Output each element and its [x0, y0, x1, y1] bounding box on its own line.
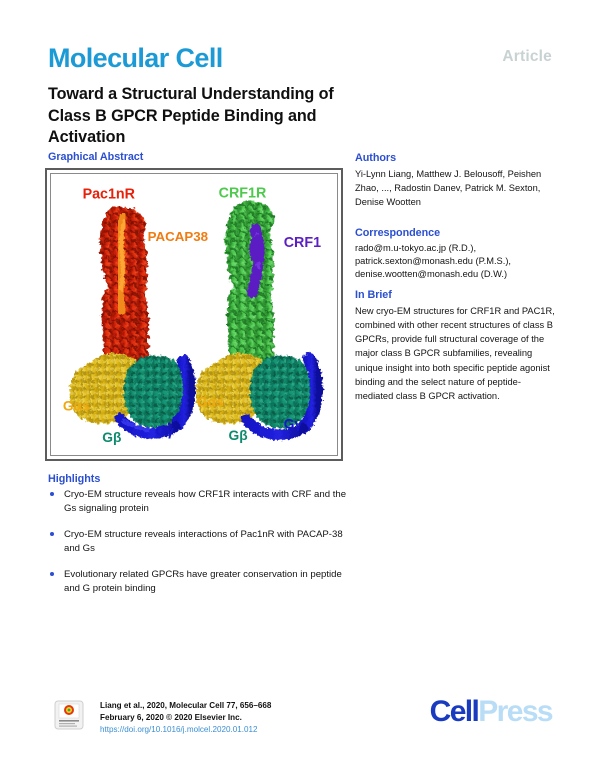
article-type-tag: Article: [502, 48, 552, 66]
label-g-alpha-s-left: Gαs: [63, 399, 90, 414]
bullet-icon: [50, 532, 54, 536]
highlights-heading: Highlights: [48, 473, 100, 485]
in-brief-heading: In Brief: [355, 289, 555, 301]
authors-section: Authors Yi-Lynn Liang, Matthew J. Belous…: [355, 152, 555, 209]
journal-title: Molecular Cell: [48, 44, 552, 72]
journal-cover-thumbnail-icon: [54, 700, 84, 730]
in-brief-text: New cryo-EM structures for CRF1R and PAC…: [355, 304, 555, 403]
in-brief-section: In Brief New cryo-EM structures for CRF1…: [355, 289, 555, 403]
highlights-list: Cryo-EM structure reveals how CRF1R inte…: [48, 488, 348, 609]
citation-block: Liang et al., 2020, Molecular Cell 77, 6…: [100, 700, 271, 736]
highlight-text: Cryo-EM structure reveals interactions o…: [64, 529, 343, 554]
cryoem-structures-illustration: Pac1nR PACAP38 CRF1R CRF1 Gαs Gβ Gγ Gαs …: [51, 174, 337, 455]
citation-line-1: Liang et al., 2020, Molecular Cell 77, 6…: [100, 700, 271, 712]
label-crf1r: CRF1R: [219, 186, 267, 202]
page-header: Article Molecular Cell Toward a Structur…: [48, 44, 552, 148]
citation-line-2: February 6, 2020 © 2020 Elsevier Inc.: [100, 712, 271, 724]
doi-link[interactable]: https://doi.org/10.1016/j.molcel.2020.01…: [100, 724, 271, 736]
graphical-abstract-figure: Pac1nR PACAP38 CRF1R CRF1 Gαs Gβ Gγ Gαs …: [45, 168, 343, 461]
page-title: Toward a Structural Understanding of Cla…: [48, 84, 348, 148]
pacap38-peptide-density: [119, 217, 124, 310]
highlight-text: Evolutionary related GPCRs have greater …: [64, 569, 342, 594]
label-pacap38: PACAP38: [148, 229, 208, 244]
list-item: Cryo-EM structure reveals interactions o…: [48, 528, 348, 555]
list-item: Evolutionary related GPCRs have greater …: [48, 568, 348, 595]
cell-press-logo-cell: Cell: [430, 695, 479, 728]
highlight-text: Cryo-EM structure reveals how CRF1R inte…: [64, 489, 346, 514]
label-g-gamma-right: Gγ: [284, 416, 303, 431]
correspondence-heading: Correspondence: [355, 227, 555, 239]
label-crf1: CRF1: [284, 235, 321, 251]
cell-press-logo: CellPress: [430, 697, 552, 727]
correspondence-section: Correspondence rado@m.u-tokyo.ac.jp (R.D…: [355, 227, 555, 282]
cell-press-logo-press: Press: [478, 695, 552, 728]
authors-heading: Authors: [355, 152, 555, 164]
graphical-abstract-heading: Graphical Abstract: [48, 151, 143, 163]
label-pac1nr: Pac1nR: [83, 187, 136, 203]
label-g-beta-right: Gβ: [229, 428, 248, 443]
bullet-icon: [50, 492, 54, 496]
correspondence-emails[interactable]: rado@m.u-tokyo.ac.jp (R.D.), patrick.sex…: [355, 242, 555, 282]
label-g-alpha-s-right: Gαs: [197, 395, 224, 410]
bullet-icon: [50, 572, 54, 576]
authors-list: Yi-Lynn Liang, Matthew J. Belousoff, Pei…: [355, 167, 555, 209]
label-g-gamma-left: Gγ: [156, 423, 175, 438]
list-item: Cryo-EM structure reveals how CRF1R inte…: [48, 488, 348, 515]
journal-cover-page: Article Molecular Cell Toward a Structur…: [0, 0, 600, 779]
graphical-abstract-canvas: Pac1nR PACAP38 CRF1R CRF1 Gαs Gβ Gγ Gαs …: [50, 173, 338, 456]
label-g-beta-left: Gβ: [102, 430, 121, 445]
